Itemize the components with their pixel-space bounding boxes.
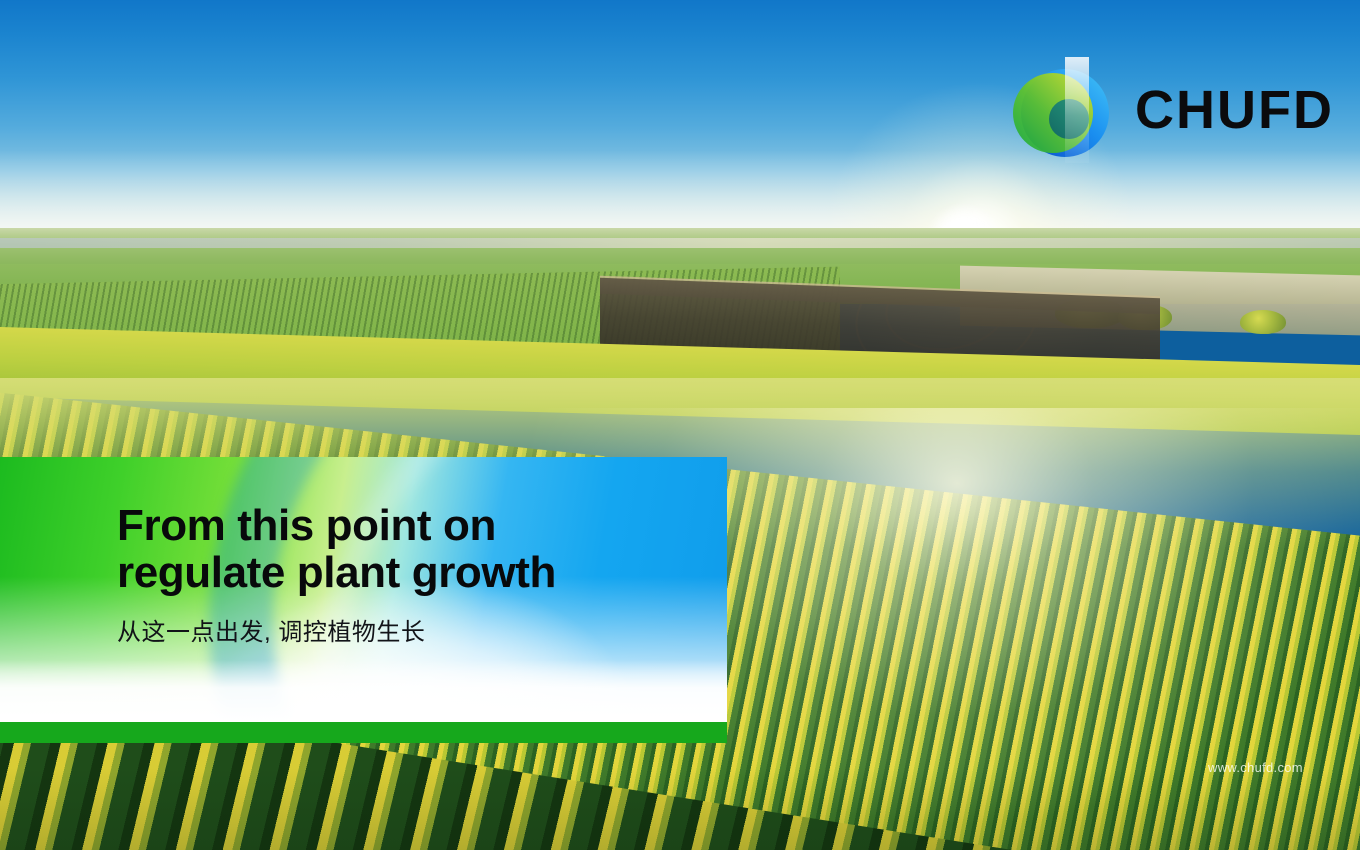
- subheadline-text-chinese: 从这一点出发, 调控植物生长: [117, 612, 717, 647]
- horizon-town-strip: [0, 238, 1360, 248]
- website-watermark[interactable]: www.chufd.com: [1208, 760, 1303, 775]
- brand-wordmark: CHUFD: [1135, 83, 1334, 137]
- panel-white-fade: [0, 660, 727, 722]
- panel-text-block: From this point on regulate plant growth…: [117, 502, 717, 647]
- chufd-circles-logo-icon: [1013, 55, 1117, 165]
- brand-logo[interactable]: CHUFD: [1013, 55, 1334, 165]
- panel-accent-bar: [0, 722, 727, 743]
- headline-panel: From this point on regulate plant growth…: [0, 457, 727, 722]
- banner-stage: CHUFD From this point on regulate plant …: [0, 0, 1360, 850]
- headline-text: From this point on regulate plant growth: [117, 502, 717, 596]
- tree-cluster: [1240, 310, 1286, 334]
